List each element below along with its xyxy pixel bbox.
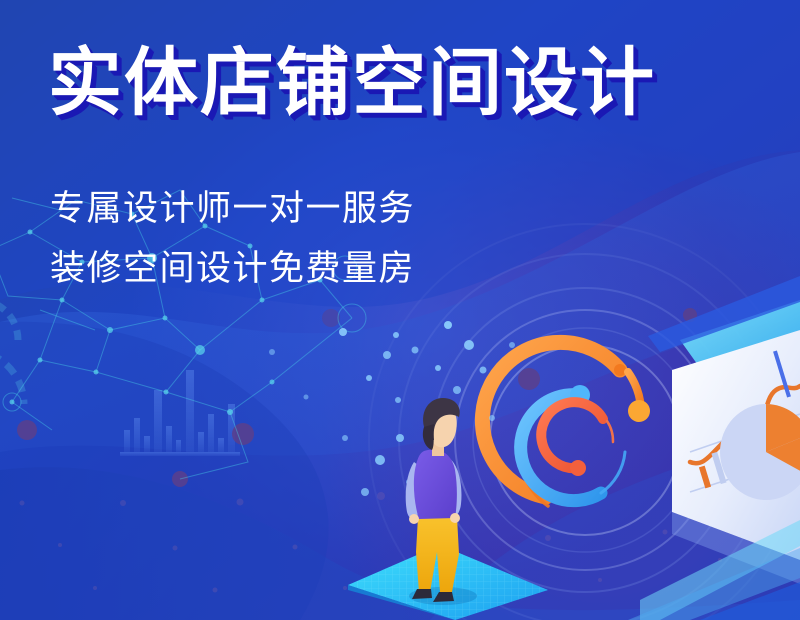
orange-red-arc (541, 402, 613, 476)
person-hair-back (423, 424, 434, 450)
promo-banner: 实体店铺空间设计 专属设计师一对一服务 装修空间设计免费量房 (0, 0, 800, 620)
person-sweater (414, 450, 457, 519)
person-hand-left (409, 514, 419, 524)
person-hand-right (450, 513, 460, 523)
orange-arc-terminal-dot (628, 372, 650, 422)
foreground-artwork (0, 0, 800, 620)
